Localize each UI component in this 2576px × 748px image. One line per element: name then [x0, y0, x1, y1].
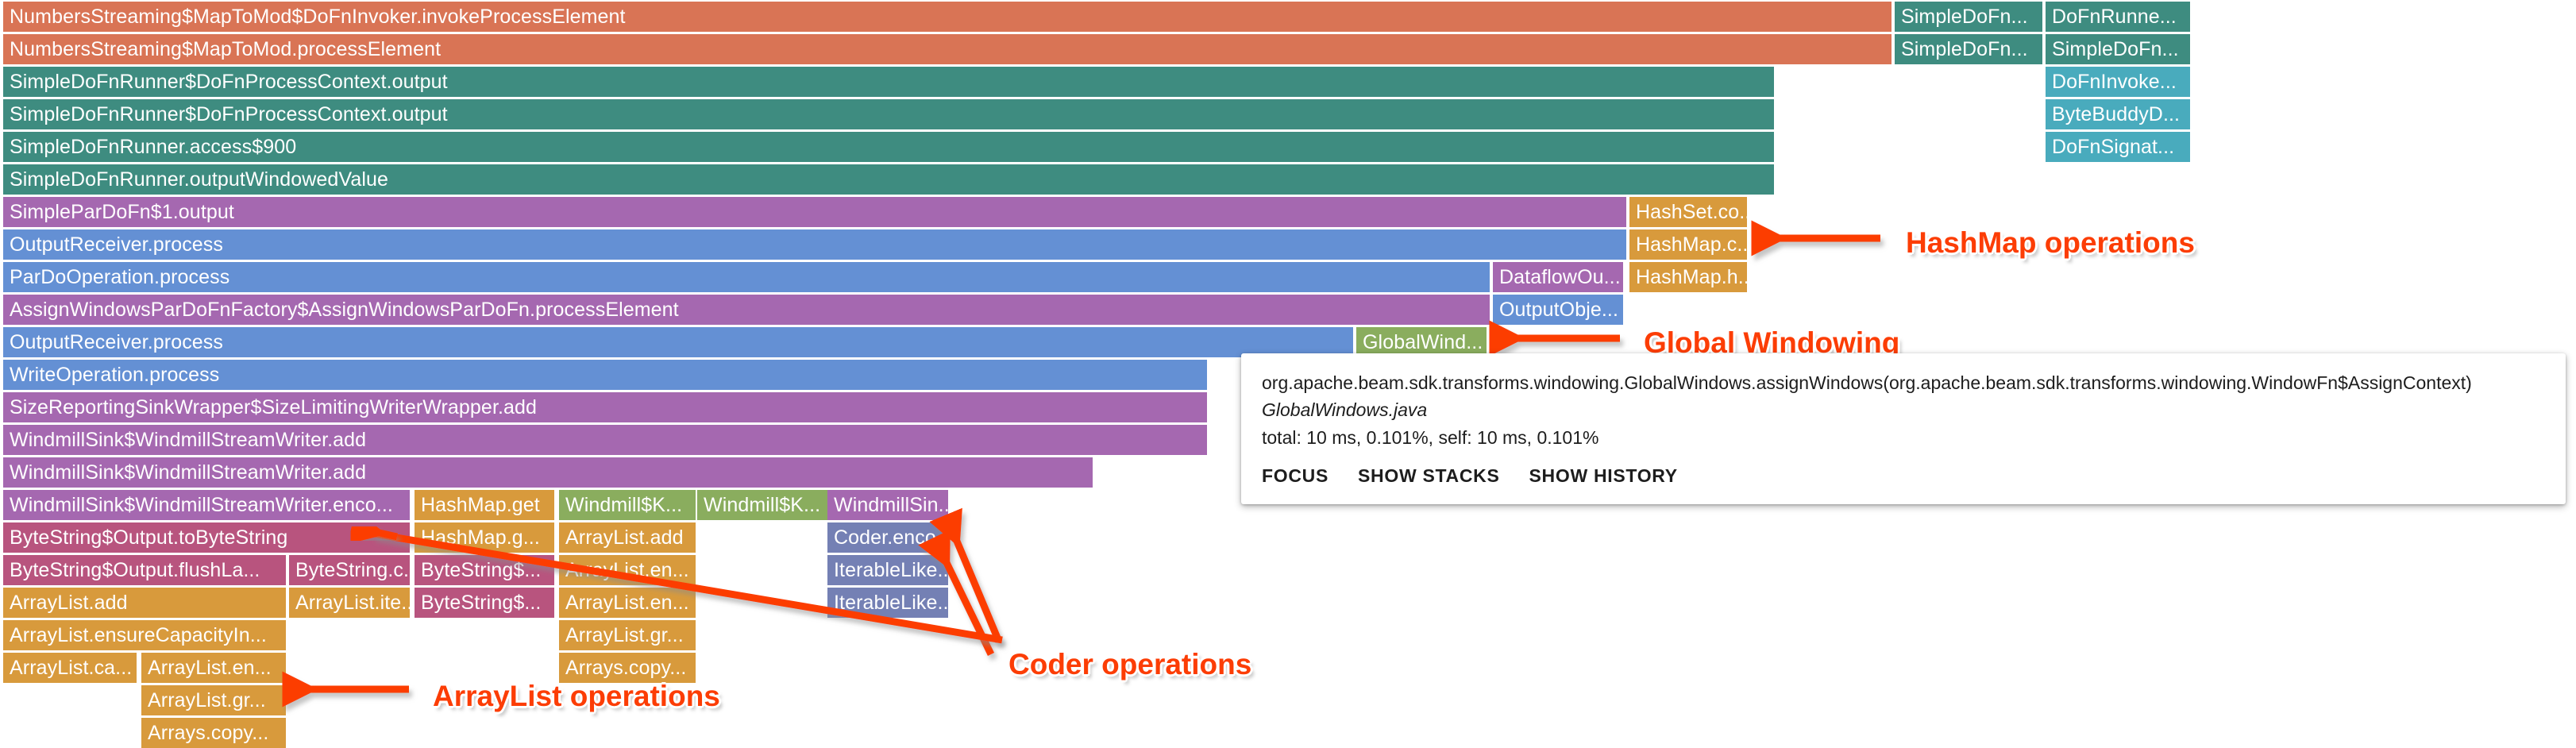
frame-tooltip[interactable]: org.apache.beam.sdk.transforms.windowing…: [1241, 353, 2566, 504]
show-stacks-button[interactable]: SHOW STACKS: [1358, 465, 1500, 487]
focus-button[interactable]: FOCUS: [1262, 465, 1328, 487]
show-history-button[interactable]: SHOW HISTORY: [1529, 465, 1678, 487]
tooltip-source-file: GlobalWindows.java: [1262, 396, 2545, 423]
arrow-coder-long-head: [361, 529, 397, 537]
tooltip-stats: total: 10 ms, 0.101%, self: 10 ms, 0.101…: [1262, 425, 2545, 450]
tooltip-actions: FOCUS SHOW STACKS SHOW HISTORY: [1262, 465, 1678, 487]
arrow-coder-long: [373, 534, 1002, 640]
tooltip-signature: org.apache.beam.sdk.transforms.windowing…: [1262, 371, 2545, 395]
